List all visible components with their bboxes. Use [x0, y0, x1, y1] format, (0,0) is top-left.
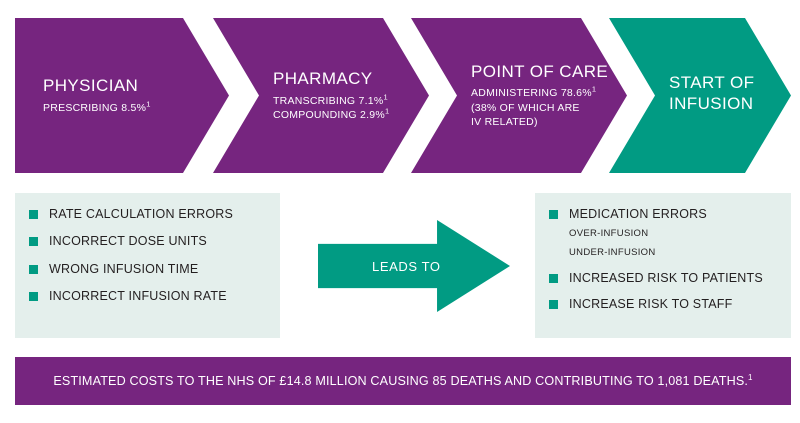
cause-label: INCORRECT INFUSION RATE — [49, 289, 227, 303]
flow-step-pharmacy-line-2: COMPOUNDING 2.9%1 — [273, 108, 419, 122]
footnote-marker: 1 — [146, 99, 150, 108]
list-item: INCREASED RISK TO PATIENTS — [549, 271, 781, 285]
flow-step-pharmacy-detail: TRANSCRIBING 7.1%1 COMPOUNDING 2.9%1 — [273, 94, 419, 122]
flow-step-point-of-care-title: POINT OF CARE — [471, 62, 617, 82]
causes-panel: RATE CALCULATION ERRORS INCORRECT DOSE U… — [15, 193, 280, 338]
list-item: MEDICATION ERRORS OVER-INFUSION UNDER-IN… — [549, 207, 781, 258]
flow-step-pharmacy-title: PHARMACY — [273, 69, 419, 89]
flow-step-start-of-infusion: START OF INFUSION — [609, 18, 791, 173]
cause-label: WRONG INFUSION TIME — [49, 262, 198, 276]
footnote-marker: 1 — [748, 373, 753, 382]
footnote-marker: 1 — [383, 92, 387, 101]
flow-step-pharmacy-content: PHARMACY TRANSCRIBING 7.1%1 COMPOUNDING … — [213, 69, 429, 122]
footnote-marker: 1 — [592, 85, 596, 94]
square-bullet-icon — [549, 274, 558, 283]
flow-step-point-of-care: POINT OF CARE ADMINISTERING 78.6%1 (38% … — [411, 18, 627, 173]
outcome-label: INCREASED RISK TO PATIENTS — [569, 271, 763, 285]
flow-step-pharmacy: PHARMACY TRANSCRIBING 7.1%1 COMPOUNDING … — [213, 18, 429, 173]
footnote-marker: 1 — [385, 106, 389, 115]
cause-label: RATE CALCULATION ERRORS — [49, 207, 233, 221]
square-bullet-icon — [29, 292, 38, 301]
square-bullet-icon — [29, 265, 38, 274]
square-bullet-icon — [549, 300, 558, 309]
outcome-label: INCREASE RISK TO STAFF — [569, 297, 732, 311]
outcome-label: MEDICATION ERRORS — [569, 207, 707, 221]
infographic-root: PHYSICIAN PRESCRIBING 8.5%1 PHARMACY TRA… — [0, 0, 800, 423]
outcomes-panel: MEDICATION ERRORS OVER-INFUSION UNDER-IN… — [535, 193, 791, 338]
summary-banner-text: ESTIMATED COSTS TO THE NHS OF £14.8 MILL… — [53, 374, 752, 388]
process-flow-chevrons: PHYSICIAN PRESCRIBING 8.5%1 PHARMACY TRA… — [15, 18, 791, 173]
summary-banner-main: ESTIMATED COSTS TO THE NHS OF £14.8 MILL… — [53, 374, 748, 388]
list-item: WRONG INFUSION TIME — [29, 262, 270, 276]
flow-step-physician-content: PHYSICIAN PRESCRIBING 8.5%1 — [15, 76, 229, 115]
outcome-sublabel: UNDER-INFUSION — [569, 247, 781, 258]
flow-step-point-of-care-line-3: IV RELATED) — [471, 115, 617, 129]
square-bullet-icon — [549, 210, 558, 219]
list-item: INCORRECT DOSE UNITS — [29, 234, 270, 248]
flow-step-start-of-infusion-title: START OF INFUSION — [669, 73, 781, 114]
flow-step-pharmacy-line-1: TRANSCRIBING 7.1%1 — [273, 94, 419, 108]
flow-step-physician-line-1: PRESCRIBING 8.5%1 — [43, 101, 219, 115]
flow-step-point-of-care-line-1: ADMINISTERING 78.6%1 — [471, 86, 617, 100]
flow-step-point-of-care-line-2: (38% OF WHICH ARE — [471, 101, 617, 115]
cause-label: INCORRECT DOSE UNITS — [49, 234, 207, 248]
flow-step-point-of-care-detail: ADMINISTERING 78.6%1 (38% OF WHICH ARE I… — [471, 86, 617, 129]
flow-step-physician-detail: PRESCRIBING 8.5%1 — [43, 101, 219, 115]
square-bullet-icon — [29, 210, 38, 219]
flow-step-start-of-infusion-content: START OF INFUSION — [609, 73, 791, 118]
outcome-sublabel: OVER-INFUSION — [569, 228, 781, 239]
right-arrow-icon: LEADS TO — [318, 220, 510, 312]
list-item: RATE CALCULATION ERRORS — [29, 207, 270, 221]
summary-banner: ESTIMATED COSTS TO THE NHS OF £14.8 MILL… — [15, 357, 791, 405]
list-item: INCORRECT INFUSION RATE — [29, 289, 270, 303]
flow-step-physician: PHYSICIAN PRESCRIBING 8.5%1 — [15, 18, 229, 173]
flow-step-physician-title: PHYSICIAN — [43, 76, 219, 96]
square-bullet-icon — [29, 237, 38, 246]
list-item: INCREASE RISK TO STAFF — [549, 297, 781, 311]
flow-step-point-of-care-content: POINT OF CARE ADMINISTERING 78.6%1 (38% … — [411, 62, 627, 129]
leads-to-label: LEADS TO — [372, 259, 441, 274]
outcome-row: MEDICATION ERRORS — [549, 207, 781, 221]
